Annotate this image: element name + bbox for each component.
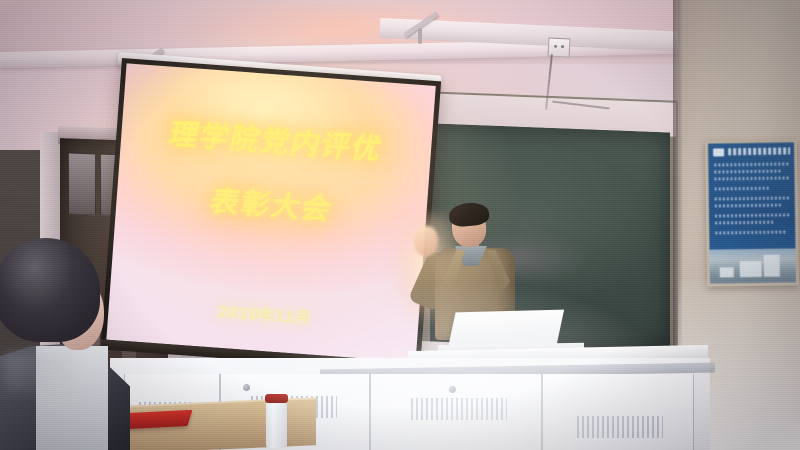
poster-text-line [715, 221, 775, 225]
console-cabinet[interactable] [542, 374, 694, 450]
cabinet-knob[interactable] [449, 386, 456, 393]
poster-heading-text [728, 147, 790, 155]
cabinet-vent [411, 398, 507, 420]
console-cabinet[interactable] [370, 374, 542, 450]
poster-building [720, 267, 734, 277]
screen-mount-hook [418, 28, 422, 44]
door-glass-pane [68, 152, 96, 215]
outlet-socket-hole [554, 45, 557, 48]
projection-screen: 理学院党内评优 表彰大会 2010年11月 [101, 58, 442, 373]
speaker-hand [414, 226, 438, 256]
thermos-cap [265, 394, 288, 403]
poster-text-line [715, 213, 790, 217]
cabinet-knob[interactable] [243, 384, 250, 391]
poster-building [740, 261, 762, 277]
poster-text-line [714, 162, 789, 166]
poster-logo-icon [713, 148, 724, 156]
slide-title-line1: 理学院党内评优 [117, 107, 436, 171]
poster-text-line [715, 176, 790, 180]
poster-building [764, 255, 780, 277]
poster-text-line [715, 187, 771, 191]
slide-title-line2: 表彰大会 [112, 171, 431, 235]
projection-screen-surface: 理学院党内评优 表彰大会 2010年11月 [106, 63, 435, 362]
poster-text-line [715, 231, 787, 235]
poster-text-line [714, 170, 782, 174]
photo-scene: 理学院党内评优 表彰大会 2010年11月 [0, 0, 800, 450]
notice-poster-frame [705, 139, 799, 286]
outlet-socket-hole [561, 45, 564, 48]
attendee-shoulder-highlight [4, 352, 74, 392]
cabinet-vent [577, 416, 663, 438]
slide-date: 2010年11月 [107, 293, 421, 336]
poster-text-line [715, 204, 781, 208]
attendee-hair [0, 238, 100, 342]
thermos-flask[interactable] [266, 398, 287, 448]
poster-text-line [715, 196, 790, 200]
notice-poster [708, 142, 796, 283]
poster-campus-photo [710, 248, 796, 283]
